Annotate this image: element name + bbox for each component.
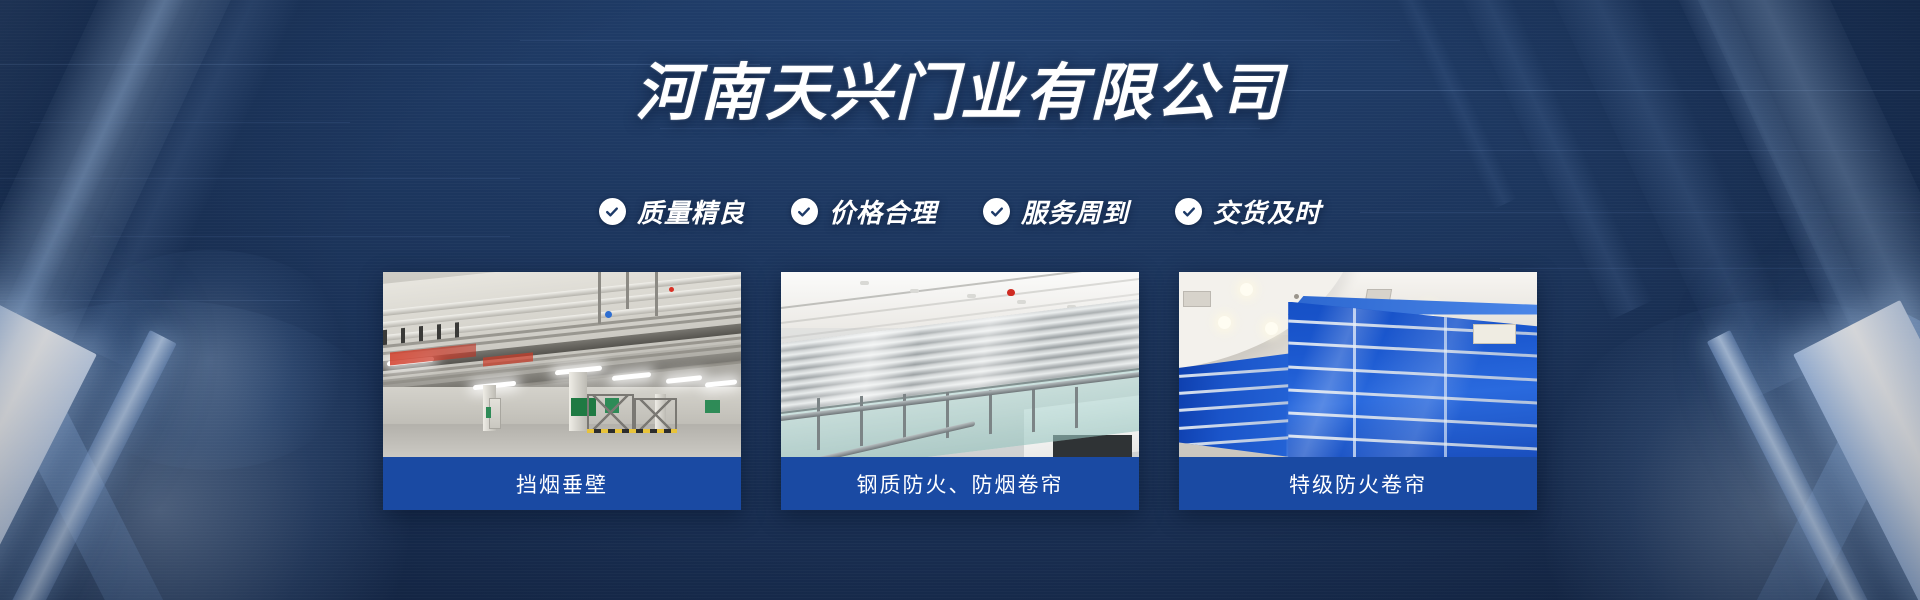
feature-label: 交货及时	[1213, 193, 1321, 230]
check-circle-icon	[983, 198, 1010, 225]
feature-list: 质量精良 价格合理 服务周到	[0, 193, 1920, 230]
product-caption: 特级防火卷帘	[1179, 457, 1537, 510]
product-photo-blue-fire-curtain	[1179, 272, 1537, 457]
check-circle-icon	[791, 198, 818, 225]
feature-label: 价格合理	[829, 193, 937, 230]
product-caption: 挡烟垂壁	[383, 457, 741, 510]
check-circle-icon	[1175, 198, 1202, 225]
product-card-list: 挡烟垂壁	[0, 272, 1920, 510]
feature-label: 质量精良	[637, 193, 745, 230]
product-photo-parking-garage	[383, 272, 741, 457]
feature-item: 质量精良	[599, 193, 745, 230]
product-card[interactable]: 钢质防火、防烟卷帘	[781, 272, 1139, 510]
product-card[interactable]: 特级防火卷帘	[1179, 272, 1537, 510]
feature-item: 价格合理	[791, 193, 937, 230]
check-circle-icon	[599, 198, 626, 225]
page-title: 河南天兴门业有限公司	[0, 62, 1920, 124]
feature-label: 服务周到	[1021, 193, 1129, 230]
feature-item: 交货及时	[1175, 193, 1321, 230]
promo-banner: 河南天兴门业有限公司 质量精良 价格合理	[0, 0, 1920, 600]
feature-item: 服务周到	[983, 193, 1129, 230]
product-card[interactable]: 挡烟垂壁	[383, 272, 741, 510]
product-photo-rolling-shutter	[781, 272, 1139, 457]
product-caption: 钢质防火、防烟卷帘	[781, 457, 1139, 510]
